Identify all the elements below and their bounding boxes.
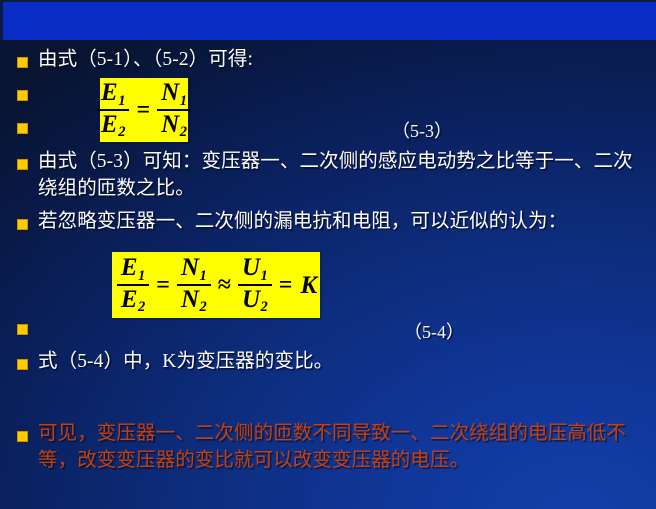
fraction-numerator: N1 (177, 254, 211, 284)
bullet-text-8: 可见，变压器一、二次侧的匝数不同导致一、二次绕组的电压高低不等，改变变压器的变比… (38, 420, 642, 474)
equation-number-5-4: （5-4） (404, 318, 464, 344)
fraction-denominator: N2 (157, 111, 191, 141)
bullet-text-7: 式（5-4）中，K为变压器的变比。 (38, 348, 638, 375)
fraction-denominator: U2 (238, 286, 272, 316)
square-bullet-icon (18, 124, 27, 133)
fraction-U1-over-U2: U1 U2 (238, 254, 272, 315)
fraction-numerator: N1 (157, 79, 191, 109)
equation-number-5-3: （5-3） (392, 117, 452, 143)
fraction-denominator: E2 (97, 111, 129, 141)
subscript: 2 (118, 124, 125, 140)
fraction-N1-over-N2: N1 N2 (157, 79, 191, 140)
subscript: 1 (261, 268, 268, 284)
subscript: 1 (200, 268, 207, 284)
square-bullet-icon (18, 432, 27, 441)
square-bullet-icon (18, 360, 27, 369)
formula-5-4-expression: E1 E2 = N1 N2 ≈ U1 U2 = K (115, 254, 317, 315)
formula-box-5-3: E1 E2 = N1 N2 (100, 78, 188, 142)
subscript: 1 (118, 93, 125, 109)
slide-title-banner (0, 0, 656, 40)
square-bullet-icon (18, 220, 27, 229)
bullet-text-4: 由式（5-3）可知：变压器一、二次侧的感应电动势之比等于一、二次绕组的匝数之比。 (38, 148, 640, 202)
approximately-equals-operator: ≈ (218, 273, 231, 297)
formula-box-5-4: E1 E2 = N1 N2 ≈ U1 U2 = K (112, 252, 320, 318)
equals-operator: = (156, 273, 170, 297)
fraction-E1-over-E2: E1 E2 (97, 79, 129, 140)
fraction-denominator: N2 (177, 286, 211, 316)
equals-operator: = (279, 273, 293, 297)
formula-5-3-expression: E1 E2 = N1 N2 (95, 79, 193, 140)
subscript: 2 (180, 124, 187, 140)
fraction-numerator: E1 (117, 254, 149, 284)
square-bullet-icon (18, 325, 27, 334)
square-bullet-icon (18, 58, 27, 67)
bullet-text-1: 由式（5-1）、（5-2）可得: (38, 46, 638, 73)
slide-canvas: 由式（5-1）、（5-2）可得: E1 E2 = N1 N2 （5-3） (0, 0, 656, 509)
fraction-E1-over-E2: E1 E2 (117, 254, 149, 315)
equals-operator: = (136, 98, 150, 122)
subscript: 1 (180, 93, 187, 109)
subscript: 2 (261, 299, 268, 315)
subscript: 2 (200, 299, 207, 315)
subscript: 2 (138, 299, 145, 315)
fraction-denominator: E2 (117, 286, 149, 316)
fraction-numerator: U1 (238, 254, 272, 284)
fraction-numerator: E1 (97, 79, 129, 109)
fraction-N1-over-N2: N1 N2 (177, 254, 211, 315)
square-bullet-icon (18, 91, 27, 100)
variable-K: K (300, 273, 317, 298)
subscript: 1 (138, 268, 145, 284)
bullet-text-5: 若忽略变压器一、二次侧的漏电抗和电阻，可以近似的认为： (38, 208, 642, 235)
square-bullet-icon (18, 160, 27, 169)
